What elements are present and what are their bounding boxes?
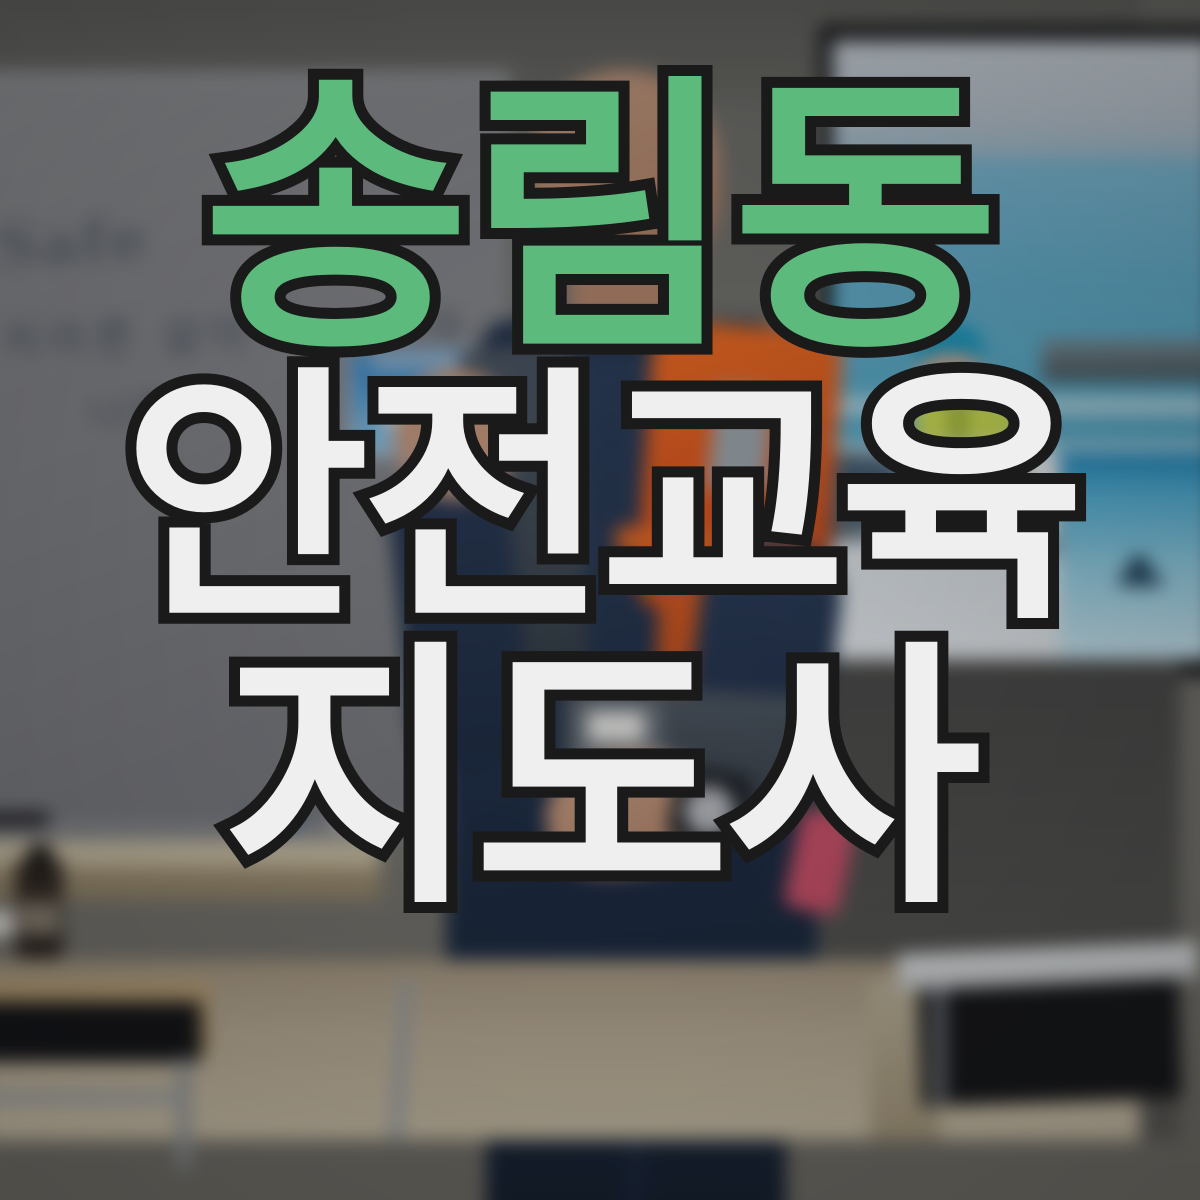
caption-line-2: 안전교육 (123, 375, 1077, 627)
thumbnail-canvas: Safe 저라른 살아 나울 한시험 (0, 0, 1200, 1200)
caption-line-3: 지도사 (222, 649, 977, 910)
caption-line-1: 송림동 (203, 84, 997, 357)
caption-overlay: 송림동 안전교육 지도사 (0, 0, 1200, 1200)
